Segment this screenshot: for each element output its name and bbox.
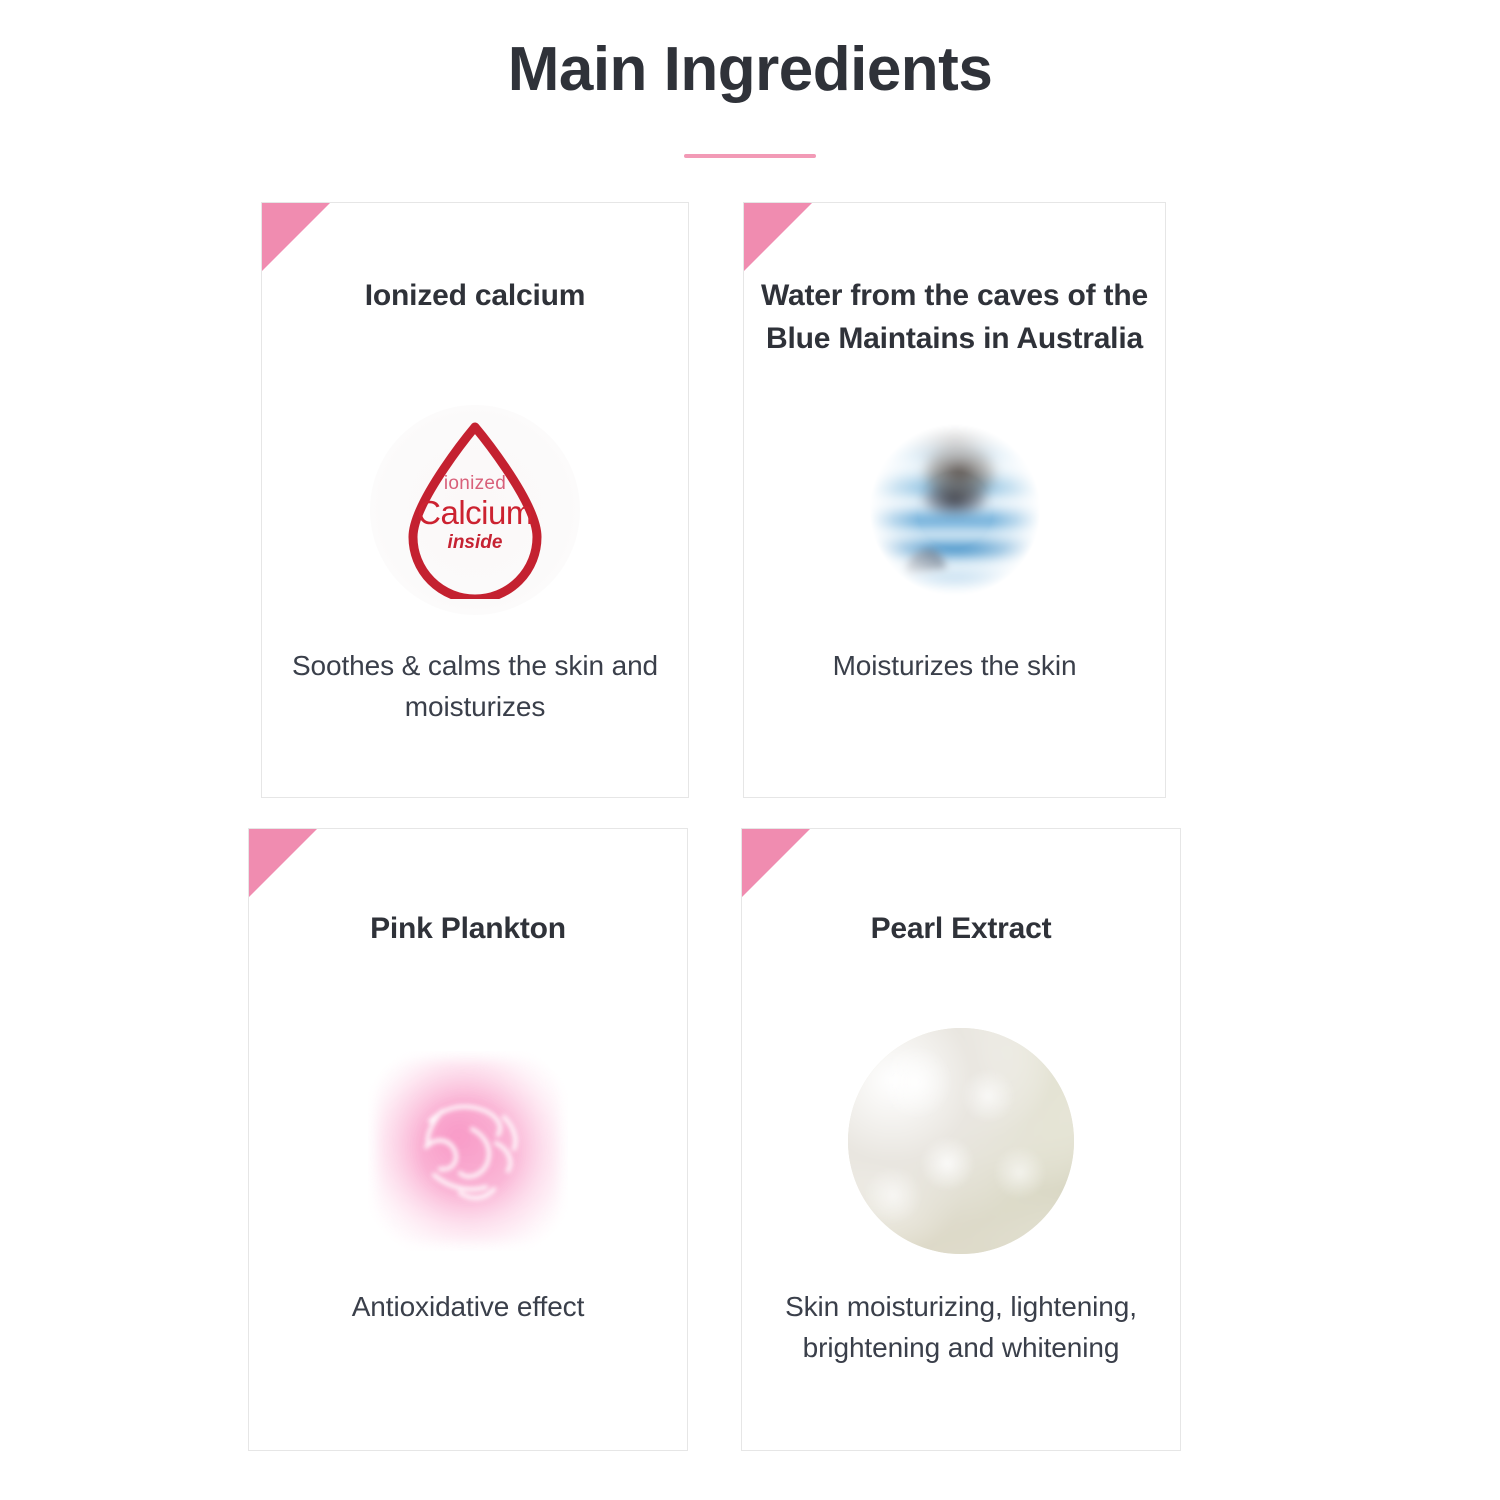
logo-line-inside: inside — [370, 533, 580, 552]
pearl-extract-photo — [848, 1028, 1074, 1254]
ocean-cave-photo — [847, 410, 1063, 610]
ingredient-card-title: Ionized calcium — [276, 275, 674, 318]
title-divider — [684, 154, 816, 158]
corner-ribbon-icon — [742, 829, 810, 897]
ingredient-card-description: Moisturizes the skin — [764, 646, 1145, 687]
ingredient-cards-grid: Ionized calcium ionized Calcium inside S… — [248, 202, 1188, 1452]
ocean-photo-layer — [847, 410, 1063, 610]
corner-ribbon-icon — [249, 829, 317, 897]
ingredient-card-title: Water from the caves of the Blue Maintai… — [758, 275, 1151, 360]
corner-ribbon-icon — [744, 203, 812, 271]
page-title: Main Ingredients — [0, 36, 1500, 104]
ingredient-card-title: Pearl Extract — [756, 908, 1166, 951]
ingredient-card-pearl-extract[interactable]: Pearl Extract Skin moisturizing, lighten… — [741, 828, 1181, 1451]
ingredient-card-media — [744, 395, 1165, 625]
ingredient-card-media — [742, 1011, 1180, 1271]
ionized-calcium-logo-text: ionized Calcium inside — [370, 474, 580, 552]
ingredient-card-description: Soothes & calms the skin and moisturizes — [282, 646, 668, 727]
corner-ribbon-icon — [262, 203, 330, 271]
ingredient-card-description: Antioxidative effect — [269, 1287, 667, 1328]
pearl-highlight-layer — [848, 1028, 1074, 1254]
ingredient-card-cave-water[interactable]: Water from the caves of the Blue Maintai… — [743, 202, 1166, 798]
ingredient-card-description: Skin moisturizing, lightening, brighteni… — [762, 1287, 1160, 1368]
ionized-calcium-logo-icon: ionized Calcium inside — [370, 405, 580, 615]
logo-line-calcium: Calcium — [370, 496, 580, 529]
main-ingredients-page: Main Ingredients Ionized calcium ionized… — [0, 0, 1500, 1500]
plankton-caustic-lines — [368, 1051, 568, 1251]
ingredient-card-media — [249, 1031, 687, 1271]
ingredient-card-ionized-calcium[interactable]: Ionized calcium ionized Calcium inside S… — [261, 202, 689, 798]
logo-line-ionized: ionized — [370, 474, 580, 493]
ingredient-card-pink-plankton[interactable]: Pink Plankton — [248, 828, 688, 1451]
ingredient-card-media: ionized Calcium inside — [262, 395, 688, 625]
pink-plankton-photo — [368, 1051, 568, 1251]
ingredient-card-title: Pink Plankton — [263, 908, 673, 951]
